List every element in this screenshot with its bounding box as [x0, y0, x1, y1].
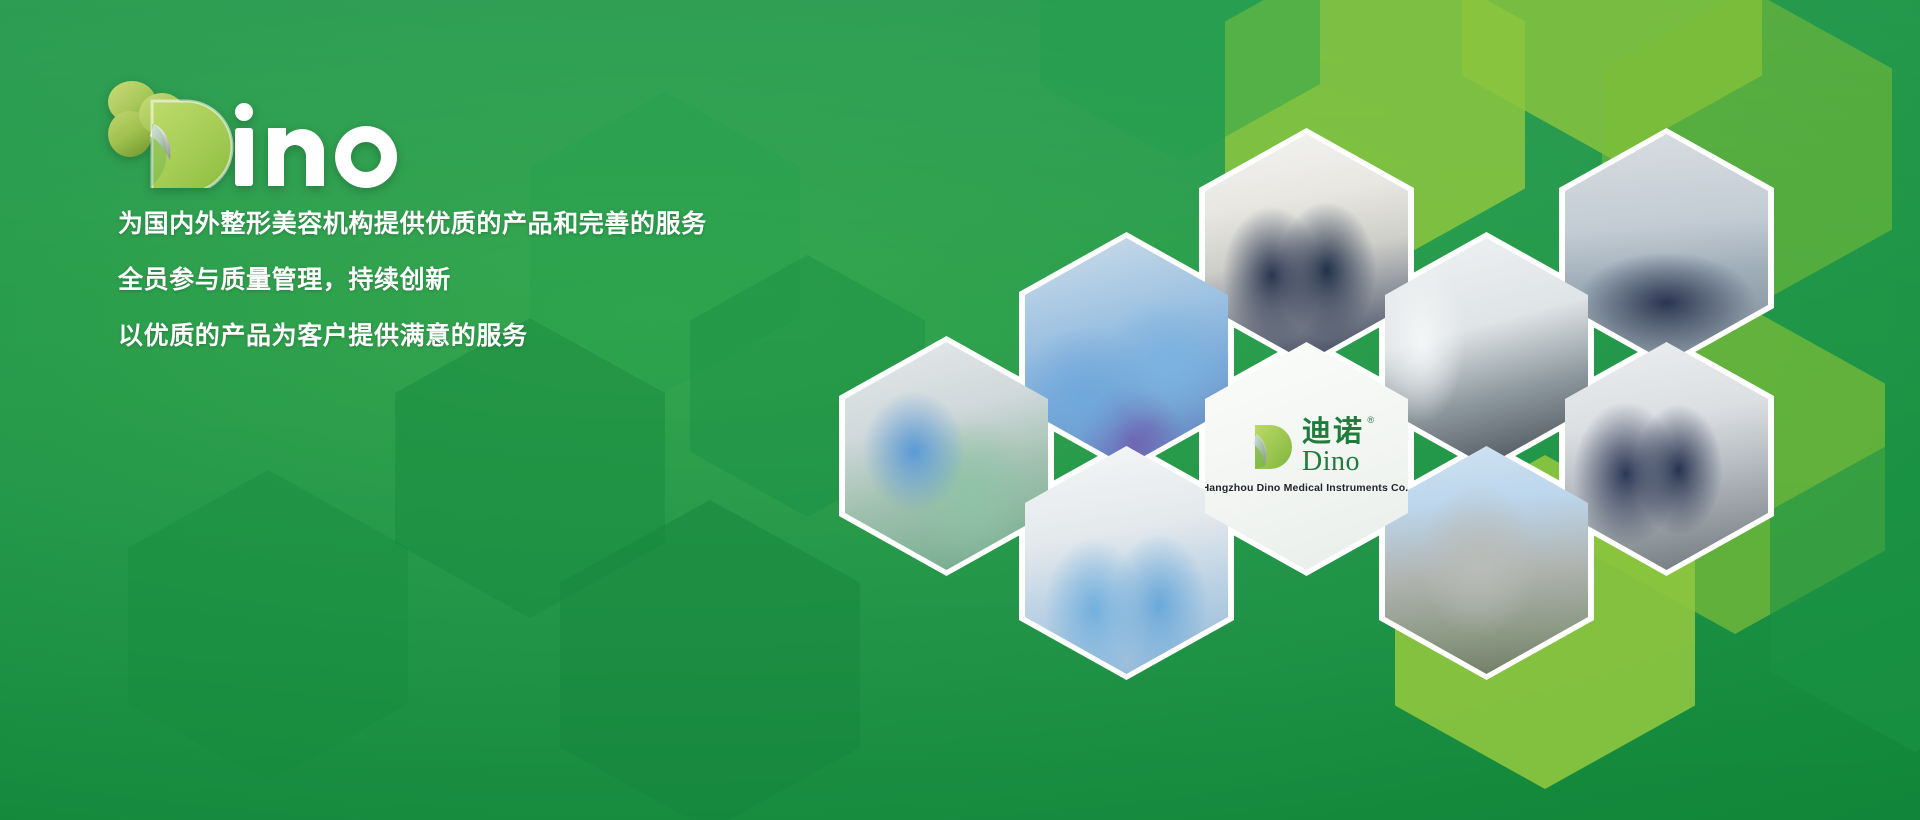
dino-mark-icon — [1249, 422, 1293, 472]
registered-mark-icon: ® — [1367, 416, 1374, 425]
dino-logo[interactable] — [92, 68, 452, 188]
logo-wordmark — [235, 103, 397, 188]
center-brand-cn: 迪诺 — [1302, 418, 1364, 447]
center-brandmark: 迪诺 ® Dino — [1249, 418, 1364, 476]
hero-banner: 为国内外整形美容机构提供优质的产品和完善的服务 全员参与质量管理，持续创新 以优… — [0, 0, 1920, 820]
slogan-line-1: 为国内外整形美容机构提供优质的产品和完善的服务 — [118, 212, 707, 237]
decor-hex-dark-lower-left — [128, 470, 408, 782]
center-brand-en: Dino — [1302, 448, 1364, 476]
center-company-name: Hangzhou Dino Medical Instruments Co.. — [1202, 482, 1412, 494]
slogan-line-3: 以优质的产品为客户提供满意的服务 — [118, 324, 707, 349]
slogan-line-2: 全员参与质量管理，持续创新 — [118, 268, 707, 293]
slogan-block: 为国内外整形美容机构提供优质的产品和完善的服务 全员参与质量管理，持续创新 以优… — [118, 212, 707, 349]
center-brand-names: 迪诺 ® Dino — [1302, 418, 1364, 476]
logo-d-mark — [150, 101, 232, 188]
